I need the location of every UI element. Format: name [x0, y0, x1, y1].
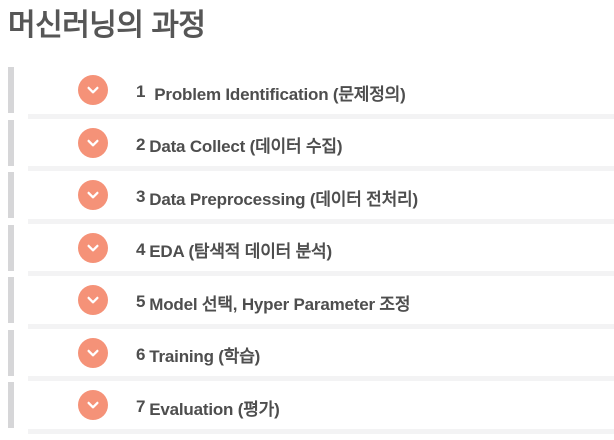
list-item[interactable]: 2 Data Collect (데이터 수집) [0, 119, 614, 172]
step-text: Training (학습) [149, 342, 260, 367]
step-text: Problem Identification (문제정의) [154, 80, 405, 105]
step-accent-bar [8, 67, 14, 113]
step-accent-bar [8, 277, 14, 323]
step-label: 2 Data Collect (데이터 수집) [136, 119, 342, 172]
step-label: 6 Training (학습) [136, 329, 260, 382]
check-circle-icon [78, 338, 108, 368]
steps-list: 1 Problem Identification (문제정의) 2 Data C… [0, 66, 614, 434]
check-circle-icon [78, 233, 108, 263]
step-label: 7 Evaluation (평가) [136, 381, 280, 434]
step-accent-bar [8, 382, 14, 428]
check-circle-icon [78, 128, 108, 158]
step-accent-bar [8, 120, 14, 166]
step-number: 5 [136, 292, 145, 312]
step-text: Data Collect (데이터 수집) [149, 132, 342, 157]
list-item[interactable]: 3 Data Preprocessing (데이터 전처리) [0, 171, 614, 224]
step-number: 1 [136, 82, 145, 102]
step-label: 3 Data Preprocessing (데이터 전처리) [136, 171, 418, 224]
step-accent-bar [8, 330, 14, 376]
step-text: Data Preprocessing (데이터 전처리) [149, 185, 418, 210]
page-title: 머신러닝의 과정 [8, 6, 206, 46]
list-item[interactable]: 7 Evaluation (평가) [0, 381, 614, 434]
check-circle-icon [78, 390, 108, 420]
list-item[interactable]: 6 Training (학습) [0, 329, 614, 382]
step-number: 7 [136, 397, 145, 417]
check-circle-icon [78, 180, 108, 210]
list-item[interactable]: 5 Model 선택, Hyper Parameter 조정 [0, 276, 614, 329]
step-accent-bar [8, 225, 14, 271]
check-circle-icon [78, 285, 108, 315]
step-label: 4 EDA (탐색적 데이터 분석) [136, 224, 332, 277]
step-number: 4 [136, 240, 145, 260]
step-label: 1 Problem Identification (문제정의) [136, 66, 406, 119]
step-text: Evaluation (평가) [149, 395, 279, 420]
step-text: Model 선택, Hyper Parameter 조정 [149, 290, 410, 315]
step-number: 2 [136, 135, 145, 155]
check-circle-icon [78, 75, 108, 105]
list-item[interactable]: 4 EDA (탐색적 데이터 분석) [0, 224, 614, 277]
slide-canvas: 머신러닝의 과정 1 Problem Identification (문제정의) [0, 0, 614, 440]
step-label: 5 Model 선택, Hyper Parameter 조정 [136, 276, 410, 329]
step-number: 6 [136, 345, 145, 365]
step-number: 3 [136, 187, 145, 207]
step-text: EDA (탐색적 데이터 분석) [149, 237, 332, 262]
list-item[interactable]: 1 Problem Identification (문제정의) [0, 66, 614, 119]
step-accent-bar [8, 172, 14, 218]
